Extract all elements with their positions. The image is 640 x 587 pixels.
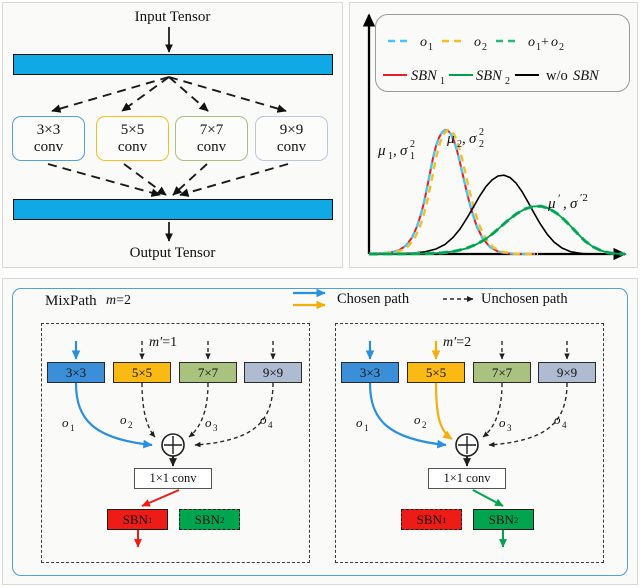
m-prime-symbol: m′ xyxy=(149,335,162,350)
sbn2-block-m1[interactable]: SBN2 xyxy=(179,509,240,530)
curve-o2 xyxy=(372,130,538,254)
branch-kernel-label: 7×7 xyxy=(200,122,223,138)
input-tensor-bar xyxy=(13,54,333,75)
annotation-mu-prime: μ ′ , σ ′2 xyxy=(547,191,588,212)
op-block-3x3-m1[interactable]: 3×3 xyxy=(47,362,105,383)
sbn-label-sub: 1 xyxy=(442,515,446,525)
branch-op-label: conv xyxy=(34,139,63,155)
svg-text:1: 1 xyxy=(388,151,393,162)
op-block-9x9-m2[interactable]: 9×9 xyxy=(538,362,596,383)
sbn1-block-m1[interactable]: SBN1 xyxy=(107,509,168,530)
legend-unchosen-path-label: Unchosen path xyxy=(481,291,568,308)
m-prime-label-1: m′=1 xyxy=(149,335,177,351)
branch-box-7x7[interactable]: 7×7 conv xyxy=(175,116,248,161)
svg-text:1: 1 xyxy=(410,151,415,162)
op-block-5x5-m2[interactable]: 5×5 xyxy=(407,362,465,383)
conv1x1-m2[interactable]: 1×1 conv xyxy=(428,468,506,489)
curve-sbn1 xyxy=(369,130,535,254)
svg-text:2: 2 xyxy=(479,139,484,150)
branch-box-5x5[interactable]: 5×5 conv xyxy=(96,116,169,161)
svg-text:′2: ′2 xyxy=(580,192,588,204)
panel-sbn-distributions: o 1 o 2 o 1 + o 2 SBN 1 SBN 2 w/o xyxy=(349,2,638,268)
svg-text:σ: σ xyxy=(570,196,578,212)
m-symbol: m xyxy=(106,293,116,308)
m-prime-value: =1 xyxy=(162,335,177,350)
sbn-label: SBN xyxy=(123,512,148,528)
branch-op-label: conv xyxy=(118,139,147,155)
svg-text:,: , xyxy=(462,131,466,147)
svg-text:2: 2 xyxy=(410,139,415,150)
op-block-5x5-m1[interactable]: 5×5 xyxy=(113,362,171,383)
subpanel-m2-frame xyxy=(335,323,604,563)
panel-mixpath: MixPath m=2 Chosen path Unchosen path m′… xyxy=(2,278,638,585)
m-prime-value: =2 xyxy=(456,335,471,350)
svg-text:μ: μ xyxy=(446,131,455,147)
annotation-mu1: μ 1 , σ 1 2 xyxy=(377,139,415,162)
op-block-7x7-m1[interactable]: 7×7 xyxy=(179,362,237,383)
output-tensor-label: Output Tensor xyxy=(130,245,216,262)
m-prime-symbol: m′ xyxy=(443,335,456,350)
branch-kernel-label: 5×5 xyxy=(121,122,144,138)
chart-legend xyxy=(375,14,630,92)
curve-o1 xyxy=(369,130,535,254)
annotation-mu2: μ 2 , σ 2 2 xyxy=(446,127,484,150)
svg-text:,: , xyxy=(563,196,567,212)
conv1x1-m1[interactable]: 1×1 conv xyxy=(134,468,212,489)
svg-text:σ: σ xyxy=(400,143,408,159)
mixpath-m-label: m=2 xyxy=(106,293,131,309)
sbn1-block-m2[interactable]: SBN1 xyxy=(401,509,462,530)
panel-multi-branch-conv: Input Tensor 3×3 conv 5×5 conv 7×7 conv … xyxy=(2,2,343,268)
curve-wo-sbn xyxy=(369,175,612,254)
branch-kernel-label: 3×3 xyxy=(37,122,60,138)
op-block-9x9-m1[interactable]: 9×9 xyxy=(244,362,302,383)
svg-text:′: ′ xyxy=(558,191,561,205)
curve-o1-o2 xyxy=(369,206,625,254)
curve-sbn2 xyxy=(369,206,625,254)
subpanel-m1-frame xyxy=(41,323,310,563)
figure-root: Input Tensor 3×3 conv 5×5 conv 7×7 conv … xyxy=(0,0,640,587)
sbn-label-sub: 1 xyxy=(148,515,152,525)
output-tensor-bar xyxy=(13,199,333,220)
op-block-3x3-m2[interactable]: 3×3 xyxy=(341,362,399,383)
svg-text:μ: μ xyxy=(547,196,556,212)
svg-text:σ: σ xyxy=(469,131,477,147)
svg-text:,: , xyxy=(393,143,397,159)
svg-text:μ: μ xyxy=(377,143,386,159)
branch-op-label: conv xyxy=(277,139,306,155)
branch-box-9x9[interactable]: 9×9 conv xyxy=(255,116,328,161)
svg-text:2: 2 xyxy=(479,127,484,138)
input-tensor-label: Input Tensor xyxy=(135,9,211,26)
sbn-label: SBN xyxy=(489,512,514,528)
legend-chosen-path-label: Chosen path xyxy=(337,291,409,308)
branch-kernel-label: 9×9 xyxy=(280,122,303,138)
sbn2-block-m2[interactable]: SBN2 xyxy=(473,509,534,530)
sbn-label-sub: 2 xyxy=(220,515,224,525)
sbn-label: SBN xyxy=(417,512,442,528)
sbn-label: SBN xyxy=(195,512,220,528)
mixpath-title: MixPath xyxy=(45,293,97,310)
op-block-7x7-m2[interactable]: 7×7 xyxy=(473,362,531,383)
branch-op-label: conv xyxy=(197,139,226,155)
svg-text:2: 2 xyxy=(457,139,462,150)
m-value: =2 xyxy=(116,293,131,308)
branch-box-3x3[interactable]: 3×3 conv xyxy=(12,116,85,161)
sbn-label-sub: 2 xyxy=(514,515,518,525)
m-prime-label-2: m′=2 xyxy=(443,335,471,351)
